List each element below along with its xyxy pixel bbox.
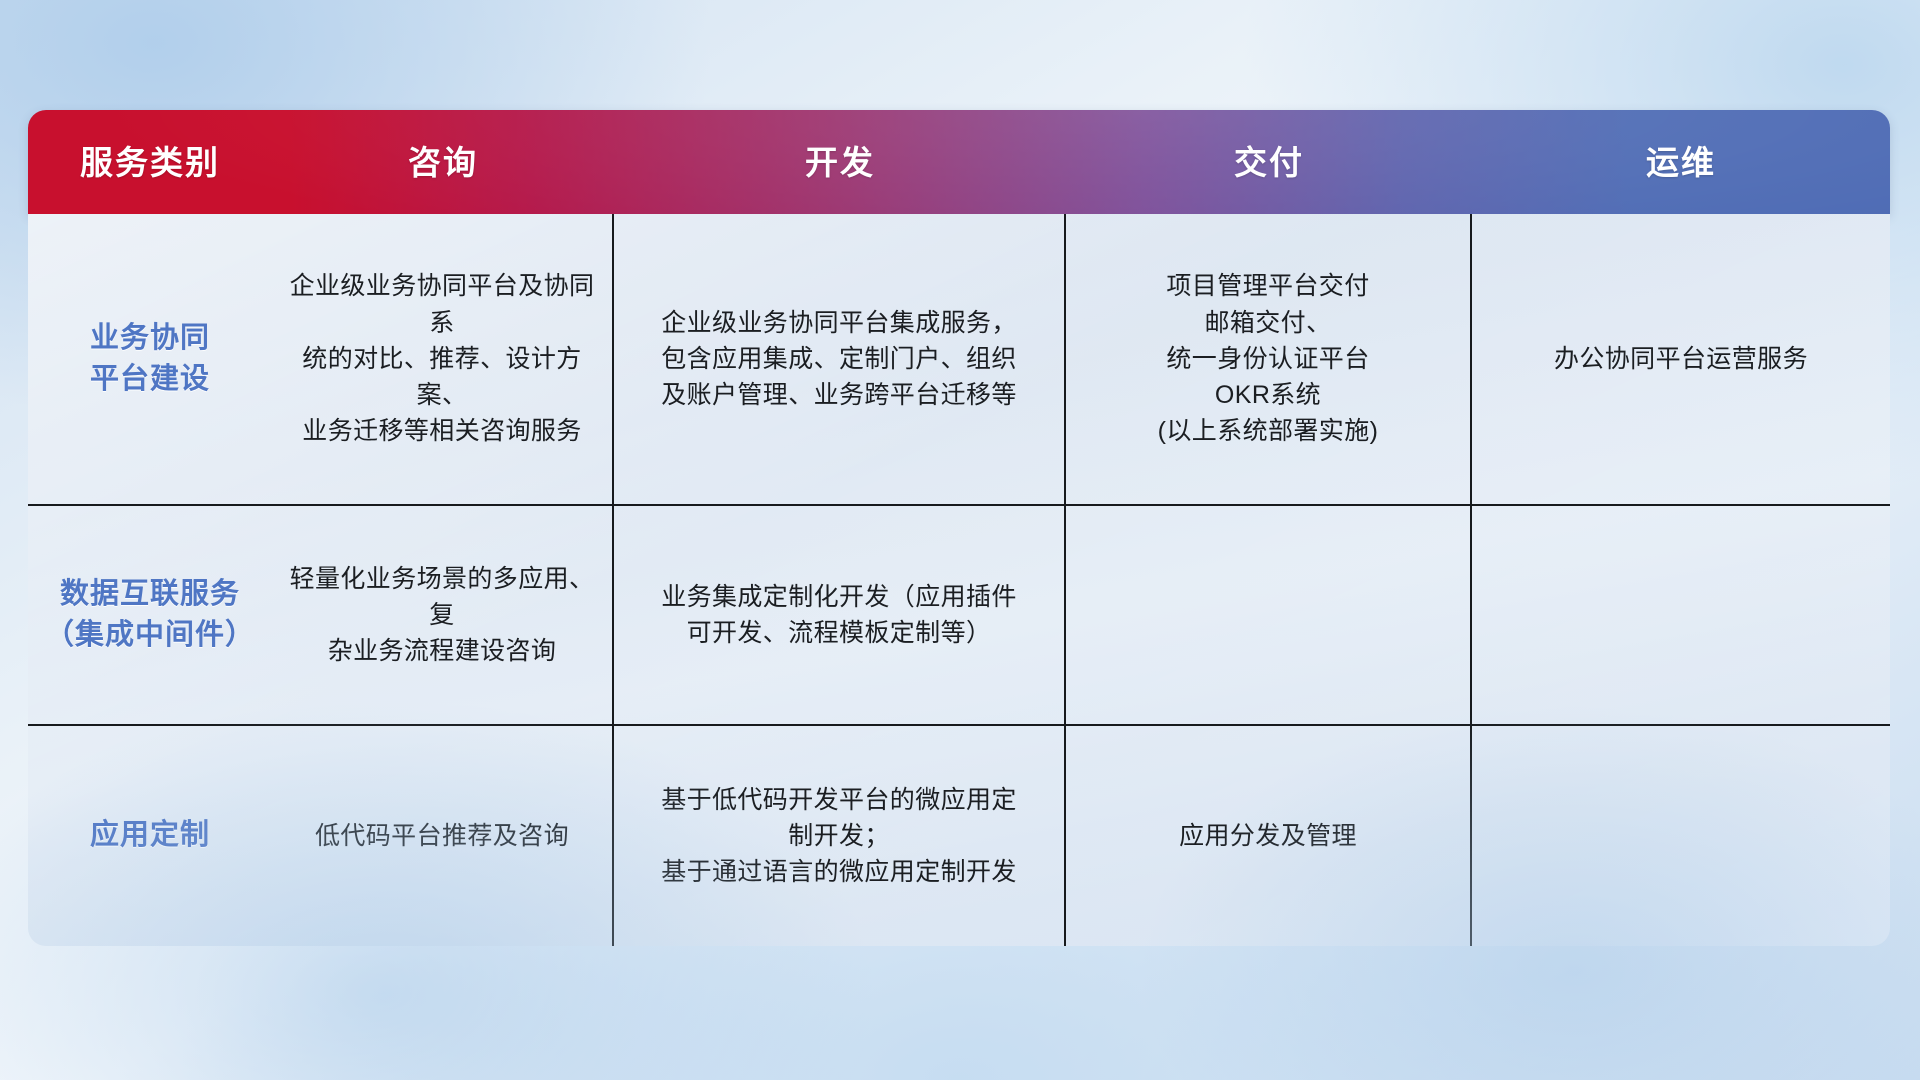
table-header-cell-consulting: 咨询: [272, 146, 614, 179]
table-body: 业务协同 平台建设 企业级业务协同平台及协同系 统的对比、推荐、设计方案、 业务…: [28, 214, 1890, 946]
cell-text: 企业级业务协同平台集成服务， 包含应用集成、定制门户、组织 及账户管理、业务跨平…: [661, 305, 1017, 414]
header-label-consulting: 咨询: [408, 144, 478, 181]
cell-text: 办公协同平台运营服务: [1554, 341, 1808, 377]
row-2-cell-development: 业务集成定制化开发（应用插件 可开发、流程模板定制等）: [614, 506, 1066, 724]
table-header-cell-development: 开发: [614, 146, 1066, 179]
header-label-development: 开发: [805, 144, 875, 181]
row-2-cell-consulting: 轻量化业务场景的多应用、复 杂业务流程建设咨询: [272, 506, 614, 724]
page-canvas: 服务类别 咨询 开发 交付 运维 业务协同 平台建设: [0, 0, 1920, 1080]
header-label-delivery: 交付: [1234, 144, 1304, 181]
table-header-row: 服务类别 咨询 开发 交付 运维: [28, 110, 1890, 214]
table-row: 业务协同 平台建设 企业级业务协同平台及协同系 统的对比、推荐、设计方案、 业务…: [28, 214, 1890, 506]
category-label: 应用定制: [90, 815, 210, 856]
header-label-category: 服务类别: [80, 144, 220, 181]
row-2-cell-delivery: [1066, 506, 1472, 724]
category-label: 数据互联服务 （集成中间件）: [45, 574, 255, 656]
cell-text: 业务集成定制化开发（应用插件 可开发、流程模板定制等）: [661, 579, 1017, 652]
row-3-cell-operations: [1472, 726, 1890, 946]
table-header-cell-category: 服务类别: [28, 146, 272, 179]
category-label: 业务协同 平台建设: [90, 318, 210, 400]
cell-text: 企业级业务协同平台及协同系 统的对比、推荐、设计方案、 业务迁移等相关咨询服务: [286, 268, 598, 449]
table-row: 数据互联服务 （集成中间件） 轻量化业务场景的多应用、复 杂业务流程建设咨询 业…: [28, 506, 1890, 726]
table-header-cell-operations: 运维: [1472, 146, 1890, 179]
cell-text: 低代码平台推荐及咨询: [315, 818, 569, 854]
table-header-cell-delivery: 交付: [1066, 146, 1472, 179]
service-matrix-table: 服务类别 咨询 开发 交付 运维 业务协同 平台建设: [28, 110, 1890, 946]
row-3-cell-development: 基于低代码开发平台的微应用定 制开发； 基于通过语言的微应用定制开发: [614, 726, 1066, 946]
cell-text: 应用分发及管理: [1179, 818, 1357, 854]
row-3-cell-category: 应用定制: [28, 726, 272, 946]
row-2-cell-category: 数据互联服务 （集成中间件）: [28, 506, 272, 724]
cell-text: 项目管理平台交付 邮箱交付、 统一身份认证平台 OKR系统 (以上系统部署实施): [1158, 268, 1379, 449]
row-1-cell-category: 业务协同 平台建设: [28, 214, 272, 504]
row-1-cell-development: 企业级业务协同平台集成服务， 包含应用集成、定制门户、组织 及账户管理、业务跨平…: [614, 214, 1066, 504]
row-3-cell-delivery: 应用分发及管理: [1066, 726, 1472, 946]
cell-text: 基于低代码开发平台的微应用定 制开发； 基于通过语言的微应用定制开发: [661, 782, 1017, 891]
row-2-cell-operations: [1472, 506, 1890, 724]
row-1-cell-operations: 办公协同平台运营服务: [1472, 214, 1890, 504]
row-3-cell-consulting: 低代码平台推荐及咨询: [272, 726, 614, 946]
table-row: 应用定制 低代码平台推荐及咨询 基于低代码开发平台的微应用定 制开发； 基于通过…: [28, 726, 1890, 946]
cell-text: 轻量化业务场景的多应用、复 杂业务流程建设咨询: [286, 561, 598, 670]
row-1-cell-consulting: 企业级业务协同平台及协同系 统的对比、推荐、设计方案、 业务迁移等相关咨询服务: [272, 214, 614, 504]
row-1-cell-delivery: 项目管理平台交付 邮箱交付、 统一身份认证平台 OKR系统 (以上系统部署实施): [1066, 214, 1472, 504]
header-label-operations: 运维: [1646, 144, 1716, 181]
